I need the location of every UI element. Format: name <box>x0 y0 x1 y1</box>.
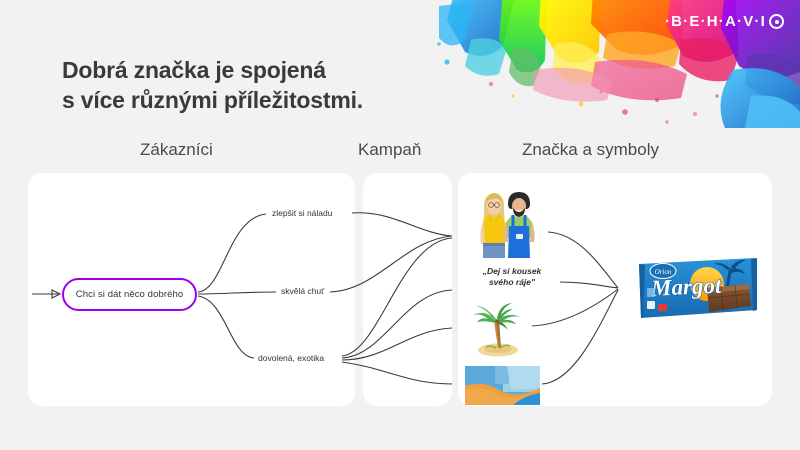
association-label-taste: skvělá chuť <box>281 286 324 296</box>
behavio-logo: ·B·E·H·A·V·I <box>665 14 784 29</box>
margot-chocolate-bar: Margot Orion <box>633 254 761 324</box>
couple-photo <box>468 186 544 258</box>
column-header-customers: Zákazníci <box>140 140 213 160</box>
svg-text:Orion: Orion <box>655 268 672 276</box>
seed-node-label: Chci si dát něco dobrého <box>76 289 184 300</box>
palm-tree-illustration <box>468 300 528 360</box>
campaign-panel <box>363 173 452 406</box>
association-label-mood: zlepšit si náladu <box>272 208 332 218</box>
page-title: Dobrá značka je spojená s více různými p… <box>62 55 363 116</box>
beach-landscape-image <box>465 366 540 405</box>
behavio-logo-text: ·B·E·H·A·V·I <box>665 14 766 29</box>
column-header-brand-symbols: Značka a symboly <box>522 140 659 160</box>
association-label-holiday: dovolená, exotika <box>258 353 324 363</box>
campaign-slogan: „Dej si kousek svého ráje" <box>465 266 559 289</box>
seed-node-need[interactable]: Chci si dát něco dobrého <box>62 278 197 311</box>
behavio-target-o-icon <box>769 14 784 29</box>
column-header-campaign: Kampaň <box>358 140 421 160</box>
